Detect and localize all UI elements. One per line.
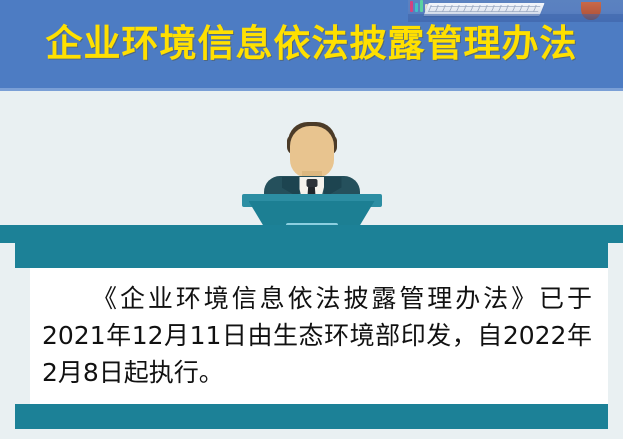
floor-band [0,225,623,243]
desk-photo-strip [408,0,623,22]
illustration-band [0,91,623,243]
pen-green [420,0,423,12]
content-card: 《企业环境信息依法披露管理办法》已于2021年12月11日由生态环境部印发，自2… [30,268,608,404]
content-paragraph: 《企业环境信息依法披露管理办法》已于2021年12月11日由生态环境部印发，自2… [42,280,592,391]
speaker-figure [227,91,397,243]
necktie-knot [306,179,317,187]
page-title: 企业环境信息依法披露管理办法 [0,20,623,68]
header-banner: 企业环境信息依法披露管理办法 [0,0,623,88]
divider-bar-bottom [15,404,608,429]
divider-bar-top [15,243,608,268]
poster-root: 企业环境信息依法披露管理办法 《企业环境信息依法披露管理办法》已于2021年12… [0,0,623,439]
pen-cyan [415,3,418,12]
pen-pink [410,1,413,12]
